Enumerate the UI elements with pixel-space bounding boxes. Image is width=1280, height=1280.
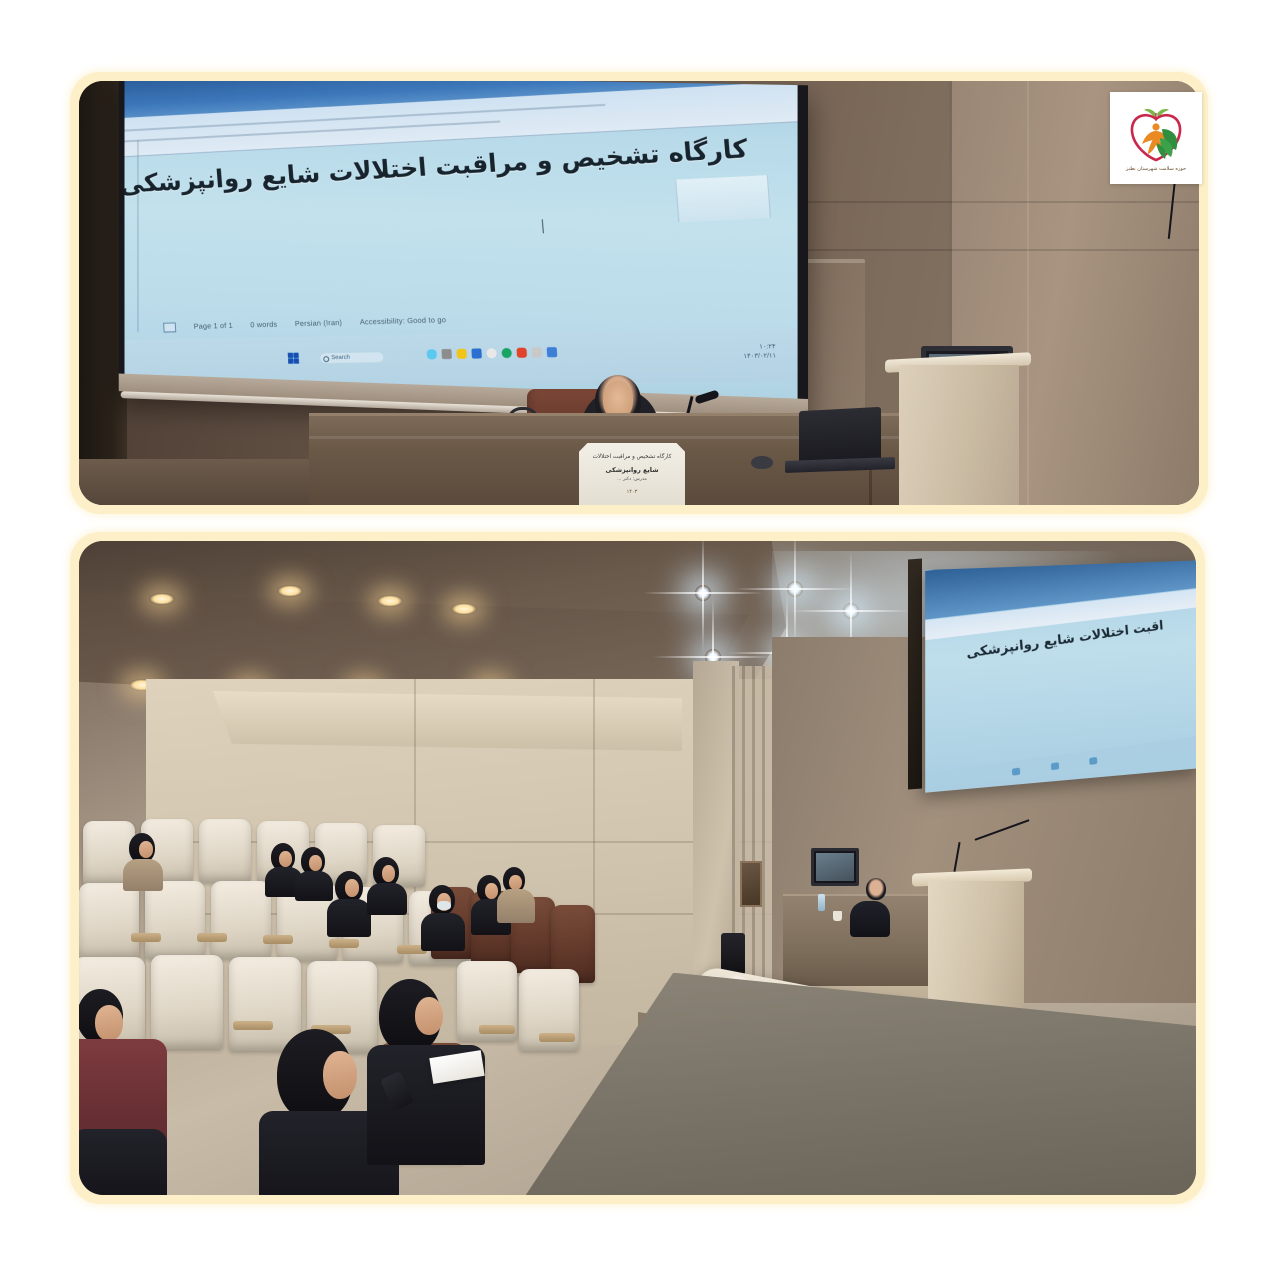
paper-cup xyxy=(833,911,842,921)
monitor-screen xyxy=(816,853,854,881)
whatsapp-icon[interactable] xyxy=(501,347,512,357)
logo-caption: حوزه سلامت شهرستان نطنز xyxy=(1126,166,1186,172)
figure-head xyxy=(1152,123,1159,130)
person-face xyxy=(95,1005,123,1041)
health-center-logo: حوزه سلامت شهرستان نطنز xyxy=(1110,92,1202,184)
ceiling-light xyxy=(451,603,477,615)
person-face xyxy=(345,879,359,897)
ceiling-light xyxy=(149,593,175,605)
photo-frame-top: کارگاه تشخیص و مراقبت اختلالات شایع روان… xyxy=(70,72,1208,514)
wall-seam xyxy=(779,249,1199,251)
armrest xyxy=(329,939,359,948)
computer-mouse xyxy=(751,456,773,469)
edge-icon[interactable] xyxy=(427,349,437,359)
person-face xyxy=(485,883,498,899)
person-face xyxy=(279,851,292,867)
person-legs xyxy=(79,1129,167,1195)
person-face xyxy=(415,997,443,1035)
person-face xyxy=(323,1051,357,1099)
projection-screen-surface: کارگاه تشخیص و مراقبت اختلالات شایع روان… xyxy=(124,81,797,399)
person-face xyxy=(509,875,522,890)
armrest xyxy=(539,1033,575,1042)
face-mask xyxy=(437,901,451,910)
desk-name-card: کارگاه تشخیص و مراقبت اختلالات شایع روان… xyxy=(579,443,685,505)
taskbar-icon xyxy=(1089,757,1097,765)
person-body xyxy=(295,871,333,901)
wall-soffit xyxy=(213,691,682,751)
armrest xyxy=(479,1025,515,1034)
wall-edge-line xyxy=(1027,81,1029,505)
stage-base xyxy=(79,459,329,505)
name-card-line-1: کارگاه تشخیص و مراقبت اختلالات xyxy=(579,453,685,461)
photo-frame-bottom: اقبت اختلالات شایع روانپزشکی xyxy=(70,532,1205,1204)
status-words-label: 0 words xyxy=(250,320,277,330)
folder-icon[interactable] xyxy=(456,348,467,358)
name-card-line-2: شایع روانپزشکی xyxy=(579,466,685,474)
seat xyxy=(229,957,301,1051)
projection-screen: کارگاه تشخیص و مراقبت اختلالات شایع روان… xyxy=(119,81,808,417)
clock-date: ۱۴۰۳/۰۲/۱۱ xyxy=(743,352,776,360)
armrest xyxy=(131,933,161,942)
layout-view-icon xyxy=(164,322,177,332)
seat xyxy=(145,881,205,959)
taskbar-clock[interactable]: ۱۰:۲۴ ۱۴۰۳/۰۲/۱۱ xyxy=(743,342,777,361)
name-card-line-3: مدرس: دکتر ... xyxy=(579,477,685,482)
logo-mark xyxy=(1126,105,1186,163)
screen-frame xyxy=(908,559,922,790)
armrest xyxy=(197,933,227,942)
spotlight xyxy=(695,585,711,601)
clock-time: ۱۰:۲۴ xyxy=(759,343,776,350)
speaker-at-desk-photo: کارگاه تشخیص و مراقبت اختلالات شایع روان… xyxy=(79,81,1199,505)
laptop-screen xyxy=(799,407,881,465)
wall-seam xyxy=(779,201,1199,203)
text-caret xyxy=(541,219,543,233)
seat xyxy=(211,881,271,959)
seat xyxy=(151,955,223,1049)
app-icon[interactable] xyxy=(532,347,543,357)
wall-art-frame xyxy=(740,861,762,907)
seat xyxy=(79,883,139,959)
settings-icon[interactable] xyxy=(486,348,497,358)
seat xyxy=(199,819,251,883)
armrest xyxy=(263,935,293,944)
water-bottle xyxy=(818,894,825,911)
desk-monitor xyxy=(811,848,859,886)
person-body xyxy=(497,889,535,923)
presenter-figure-2 xyxy=(850,901,890,937)
person-body xyxy=(327,899,371,937)
person-body xyxy=(421,913,465,951)
projection-screen-2: اقبت اختلالات شایع روانپزشکی xyxy=(925,560,1196,792)
seating-block xyxy=(79,829,660,1195)
name-card-line-4: ۱۴۰۳ xyxy=(579,489,685,495)
pdf-icon[interactable] xyxy=(516,347,527,357)
podium xyxy=(899,365,1019,505)
start-button-icon[interactable] xyxy=(287,352,298,363)
ribbon-row xyxy=(124,121,499,143)
poster-canvas: کارگاه تشخیص و مراقبت اختلالات شایع روان… xyxy=(0,0,1280,1280)
status-language-label: Persian (Iran) xyxy=(295,318,343,328)
armrest xyxy=(233,1021,273,1030)
spotlight xyxy=(787,581,803,597)
word-icon[interactable] xyxy=(471,348,482,358)
status-page-label: Page 1 of 1 xyxy=(193,321,233,331)
lecture-hall-wide-photo: اقبت اختلالات شایع روانپزشکی xyxy=(79,541,1196,1195)
ceiling-light xyxy=(277,585,303,597)
ceiling-light xyxy=(377,595,403,607)
spotlight xyxy=(843,603,859,619)
status-accessibility-label: Accessibility: Good to go xyxy=(360,316,447,327)
ribbon-group xyxy=(675,175,771,222)
person-body xyxy=(367,883,407,915)
telegram-icon[interactable] xyxy=(547,346,558,356)
person-face xyxy=(309,855,322,871)
explorer-icon[interactable] xyxy=(441,348,451,358)
taskbar-icon xyxy=(1051,762,1059,770)
person-face xyxy=(139,841,153,858)
taskbar-icon xyxy=(1011,767,1019,775)
presenter-head-2 xyxy=(866,878,886,900)
person-face xyxy=(382,865,395,882)
person-body xyxy=(123,859,163,891)
taskbar-search-input[interactable]: Search xyxy=(320,352,384,363)
taskbar-app-icons[interactable] xyxy=(427,346,558,358)
